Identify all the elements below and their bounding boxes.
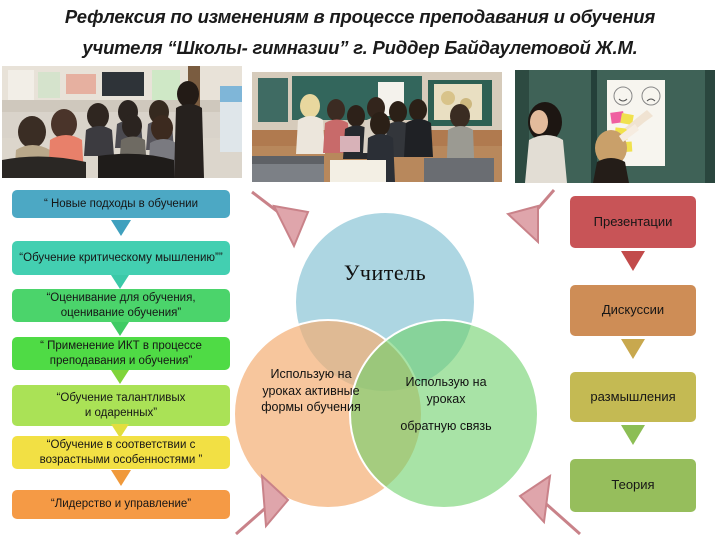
photo-classroom-circle [2,66,242,178]
flow-arrow-left-3 [111,322,129,336]
flow-arrow-right-1 [621,251,645,271]
title-line-2: учителя “Школы- гимназии” г. Риддер Байд… [0,37,720,59]
pointer-arrow-bottom-right [500,470,588,538]
flow-box-right-2[interactable]: Дискуссии [570,285,696,336]
page-title: Рефлексия по изменениям в процессе препо… [0,0,720,66]
title-line-1: Рефлексия по изменениям в процессе препо… [0,6,720,28]
flow-arrow-left-6 [111,470,131,486]
flow-arrow-left-4 [111,370,129,384]
flow-box-left-7[interactable]: “Лидерство и управление” [12,490,230,519]
flow-arrow-right-2 [621,339,645,359]
flow-arrow-right-3 [621,425,645,445]
flow-box-right-1[interactable]: Презентации [570,196,696,248]
flow-box-left-2[interactable]: “Обучение критическому мышлению”” [12,241,230,275]
flow-box-right-4[interactable]: Теория [570,459,696,512]
pointer-arrow-bottom-left [232,472,312,540]
flow-box-left-5[interactable]: “Обучение талантливых и одаренных” [12,385,230,426]
flow-arrow-left-2 [111,275,129,289]
flow-box-right-3[interactable]: размышления [570,372,696,422]
flow-box-left-1[interactable]: “ Новые подходы в обучении [12,190,230,218]
flow-box-left-6[interactable]: “Обучение в соответствии с возрастными о… [12,436,230,469]
pointer-arrow-top-right [494,190,572,252]
photo-flipchart [515,70,715,183]
flow-box-left-4[interactable]: “ Применение ИКТ в процессе преподавания… [12,337,230,370]
photo-group-work [252,72,502,182]
pointer-arrow-top-left [252,192,332,254]
flow-box-left-3[interactable]: “Оценивание для обучения, оценивание обу… [12,289,230,322]
flow-arrow-left-1 [111,220,131,236]
